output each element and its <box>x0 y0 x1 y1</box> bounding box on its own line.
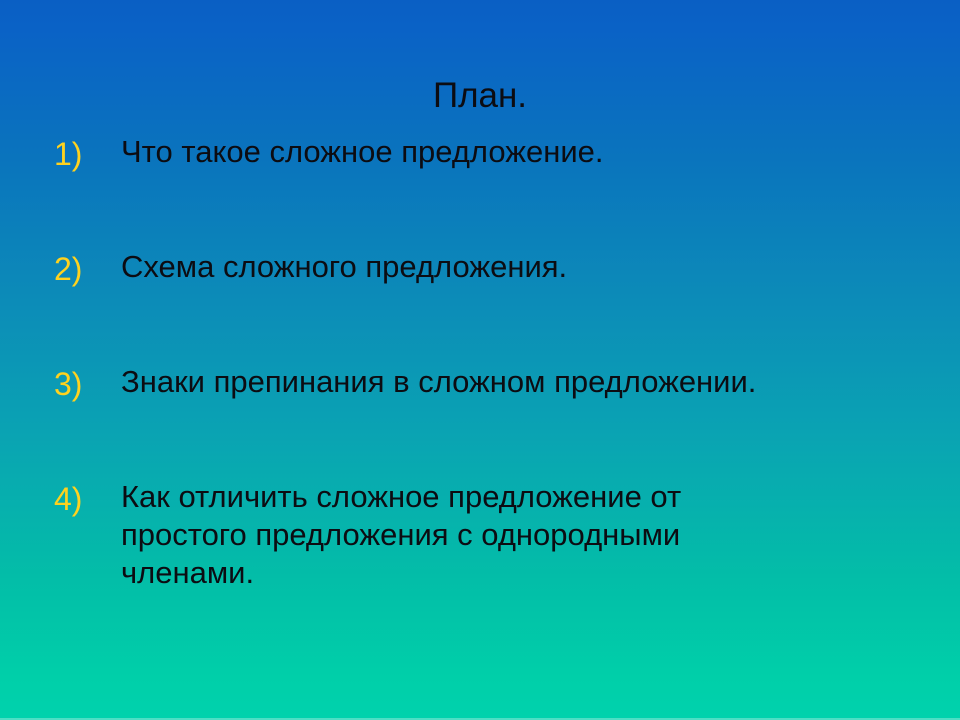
list-item-number: 2) <box>54 248 110 290</box>
slide-title: План. <box>0 76 960 116</box>
list-item: 4) Как отличить сложное предложение от п… <box>0 478 960 618</box>
list-item-number: 4) <box>54 478 110 520</box>
list-item-text: Схема сложного предложения. <box>121 248 821 286</box>
list-item-text: Знаки препинания в сложном предложении. <box>121 363 821 401</box>
list-item-number: 1) <box>54 133 110 175</box>
list-item-number: 3) <box>54 363 110 405</box>
list-item-text: Что такое сложное предложение. <box>121 133 821 171</box>
plan-list: 1) Что такое сложное предложение. 2) Схе… <box>0 133 960 618</box>
list-item: 2) Схема сложного предложения. <box>0 248 960 363</box>
list-item-text: Как отличить сложное предложение от прос… <box>121 478 789 592</box>
presentation-slide: План. 1) Что такое сложное предложение. … <box>0 0 960 720</box>
list-item: 1) Что такое сложное предложение. <box>0 133 960 248</box>
list-item: 3) Знаки препинания в сложном предложени… <box>0 363 960 478</box>
